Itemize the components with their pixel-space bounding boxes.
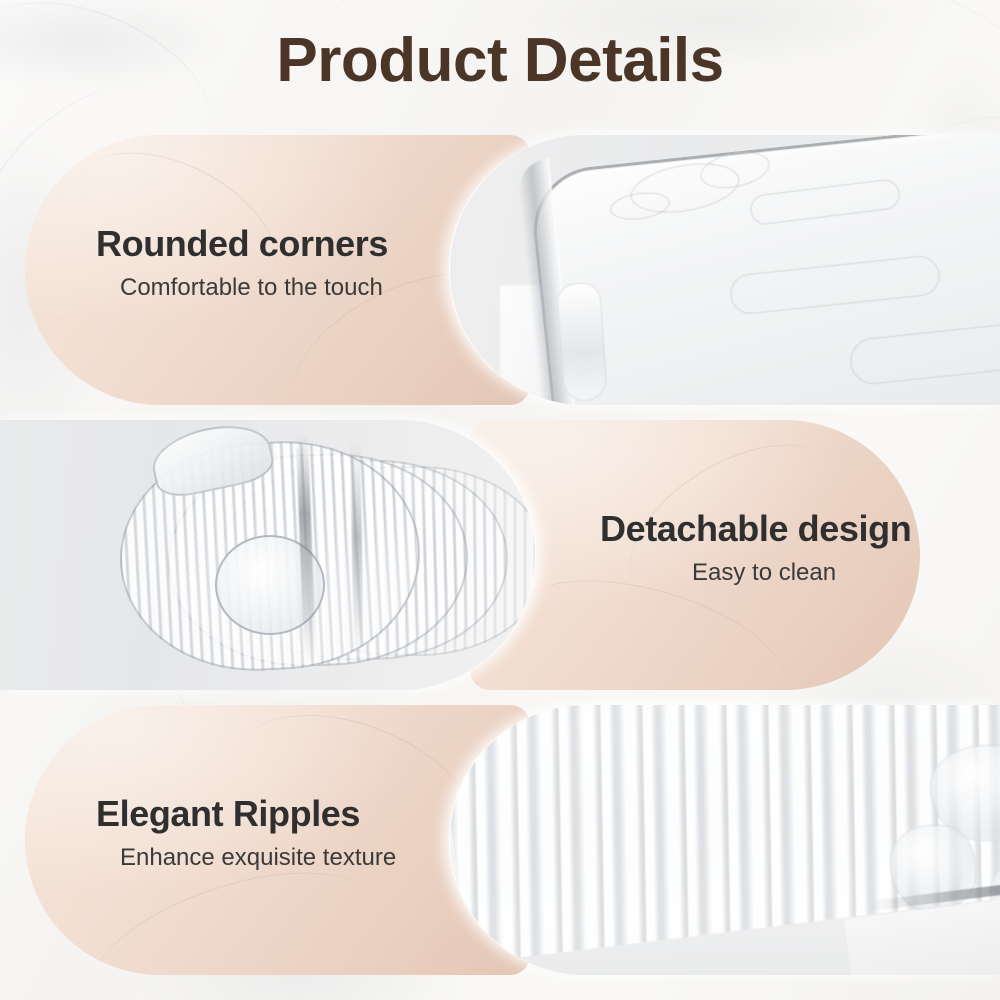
rippled-texture-photo <box>450 705 1000 975</box>
glass-container-photo <box>450 135 1000 405</box>
page-title: Product Details <box>0 28 1000 93</box>
feature-row-rounded-corners: Rounded corners Comfortable to the touch <box>0 135 1000 405</box>
feature-subtitle: Easy to clean <box>600 559 911 588</box>
feature-row-detachable-design: Detachable design Easy to clean <box>0 420 1000 690</box>
feature-text-block: Detachable design Easy to clean <box>600 508 911 588</box>
feature-text-block: Elegant Ripples Enhance exquisite textur… <box>96 793 396 873</box>
feature-row-elegant-ripples: Elegant Ripples Enhance exquisite textur… <box>0 705 1000 975</box>
feature-subtitle: Enhance exquisite texture <box>96 844 396 873</box>
feature-image-panel <box>450 705 1000 975</box>
feature-subtitle: Comfortable to the touch <box>96 274 388 303</box>
feature-title: Elegant Ripples <box>96 793 396 835</box>
feature-text-block: Rounded corners Comfortable to the touch <box>96 223 388 303</box>
detachable-lids-photo <box>0 420 535 690</box>
feature-image-panel <box>450 135 1000 405</box>
glass-reflection <box>556 282 608 403</box>
feature-title: Detachable design <box>600 508 911 550</box>
feature-title: Rounded corners <box>96 223 388 265</box>
feature-image-panel <box>0 420 535 690</box>
